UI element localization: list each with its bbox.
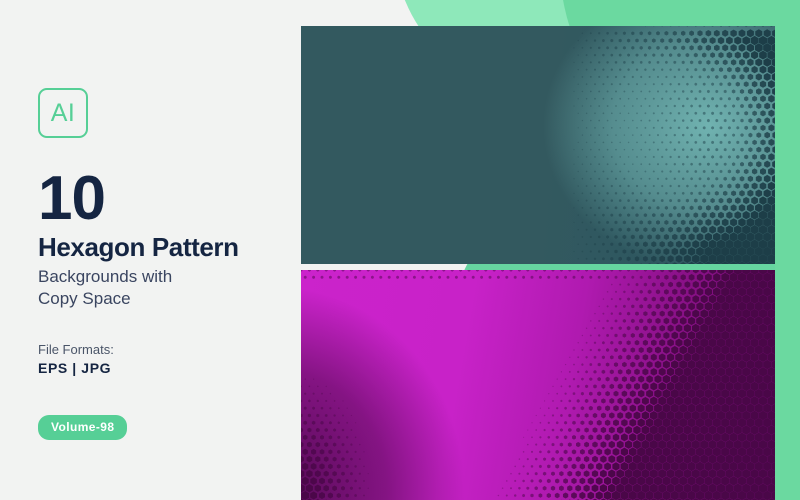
adobe-illustrator-badge-icon: AI: [38, 88, 88, 138]
poster-canvas: AI 10 Hexagon Pattern Backgrounds with C…: [0, 0, 800, 500]
teal-gradient-wash: [301, 26, 775, 264]
magenta-hexagon-banner[interactable]: [301, 270, 775, 500]
file-formats-value: EPS | JPG: [38, 360, 111, 376]
page-subtitle: Backgrounds with Copy Space: [38, 266, 268, 311]
page-subtitle-line-2: Copy Space: [38, 288, 268, 310]
page-title: Hexagon Pattern: [38, 234, 239, 262]
page-subtitle-line-1: Backgrounds with: [38, 266, 268, 288]
volume-badge: Volume-98: [38, 415, 127, 440]
teal-hexagon-banner[interactable]: [301, 26, 775, 264]
green-right-strip: [775, 0, 800, 500]
magenta-corner-shadow: [301, 270, 775, 500]
info-panel: AI 10 Hexagon Pattern Backgrounds with C…: [38, 0, 288, 500]
item-count: 10: [38, 168, 105, 230]
ai-badge-label: AI: [51, 101, 76, 126]
file-formats-label: File Formats:: [38, 342, 114, 357]
